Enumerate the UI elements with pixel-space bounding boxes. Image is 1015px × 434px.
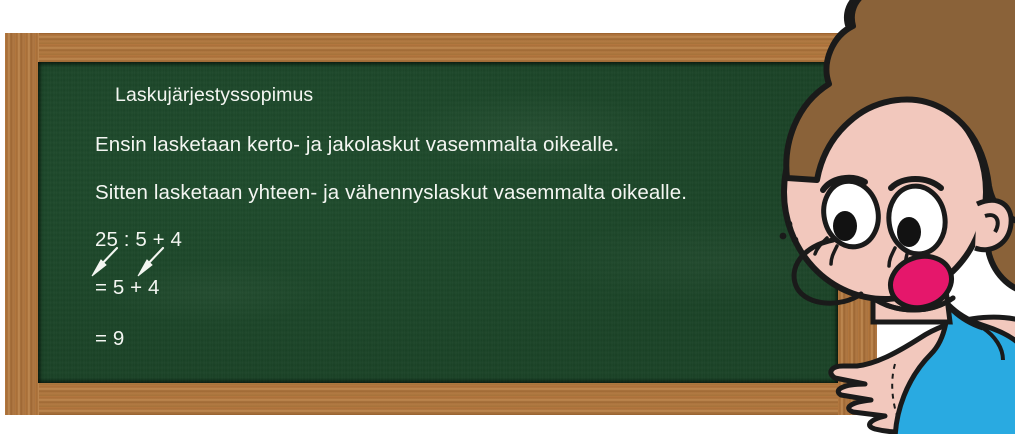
- order-of-operations-rule-1: Ensin lasketaan kerto- ja jakolaskut vas…: [95, 133, 619, 157]
- chalkboard-scene: Laskujärjestyssopimus Ensin lasketaan ke…: [0, 0, 1015, 434]
- example-step-2: = 5 + 4: [95, 276, 160, 300]
- order-of-operations-rule-2: Sitten lasketaan yhteen- ja vähennyslask…: [95, 181, 687, 205]
- chalk-arrow-layer: [38, 62, 838, 383]
- example-step-3: = 9: [95, 327, 124, 351]
- arrow-division-result: [92, 248, 117, 276]
- frame-rail-left: [5, 33, 39, 415]
- arrow-addend-carry: [138, 248, 163, 276]
- boy-ear: [975, 200, 1011, 249]
- cartoon-boy: [745, 0, 1015, 434]
- lesson-title: Laskujärjestyssopimus: [115, 84, 313, 107]
- chalkboard-surface: Laskujärjestyssopimus Ensin lasketaan ke…: [38, 62, 838, 383]
- example-step-1: 25 : 5 + 4: [95, 228, 182, 252]
